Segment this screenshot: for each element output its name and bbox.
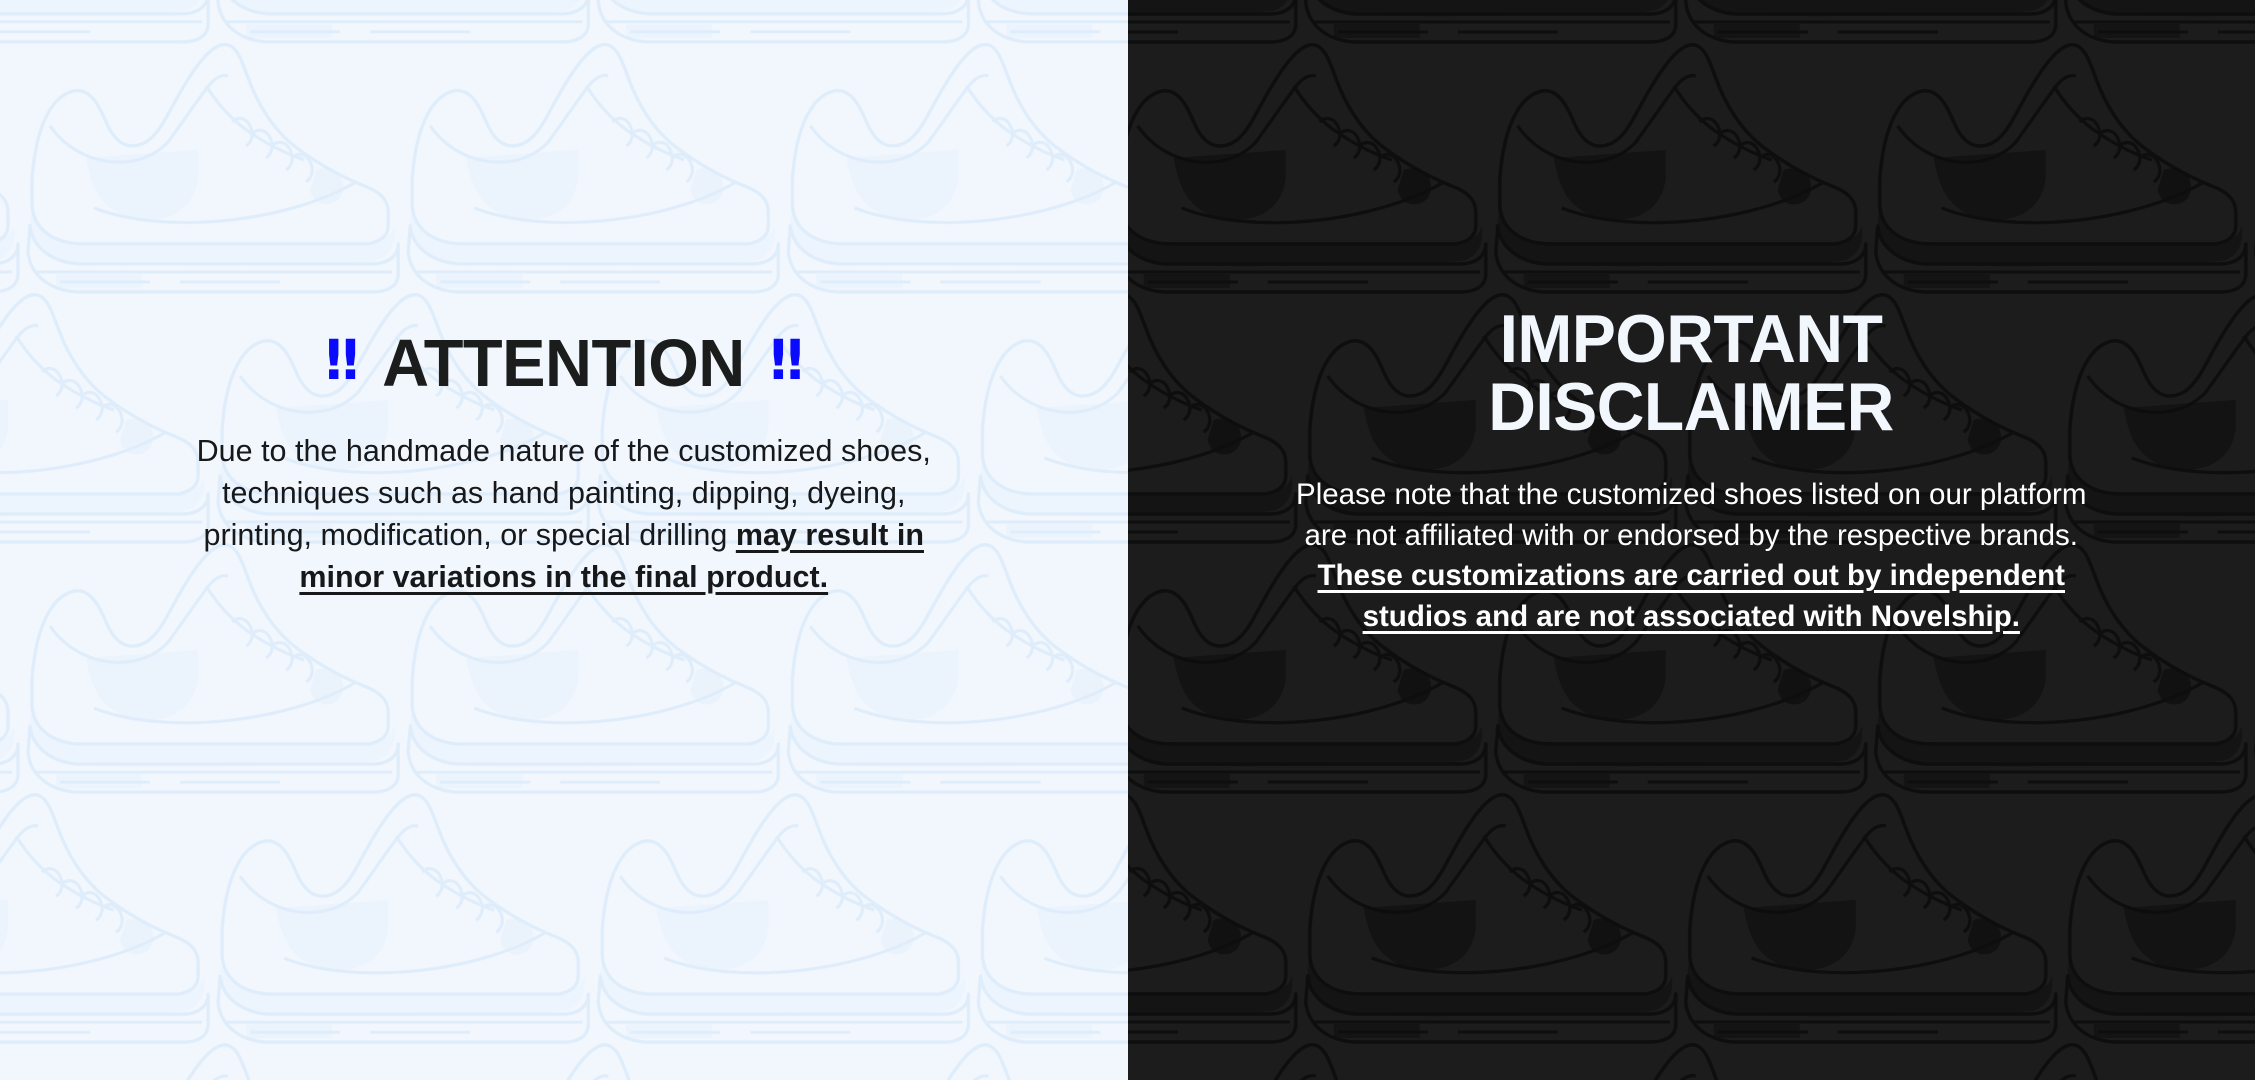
disclaimer-panel: IMPORTANT DISCLAIMER Please note that th… [1128,0,2255,1080]
disclaimer-heading: IMPORTANT DISCLAIMER [1352,305,2031,441]
disclaimer-content: IMPORTANT DISCLAIMER Please note that th… [1128,0,2255,667]
disclaimer-body-plain: Please note that the customized shoes li… [1296,478,2086,552]
attention-content: ‼ ATTENTION ‼ Due to the handmade nature… [0,0,1128,629]
double-exclamation-left-icon: ‼ [326,333,358,388]
disclaimer-body: Please note that the customized shoes li… [1291,475,2091,638]
attention-panel: ‼ ATTENTION ‼ Due to the handmade nature… [0,0,1128,1080]
attention-heading-label: ATTENTION [382,330,745,397]
disclaimer-body-emphasis: These customizations are carried out by … [1318,559,2066,633]
attention-heading: ‼ ATTENTION ‼ [326,330,802,397]
disclaimer-banner: ‼ ATTENTION ‼ Due to the handmade nature… [0,0,2255,1080]
attention-body: Due to the handmade nature of the custom… [174,430,954,598]
double-exclamation-right-icon: ‼ [770,333,802,388]
